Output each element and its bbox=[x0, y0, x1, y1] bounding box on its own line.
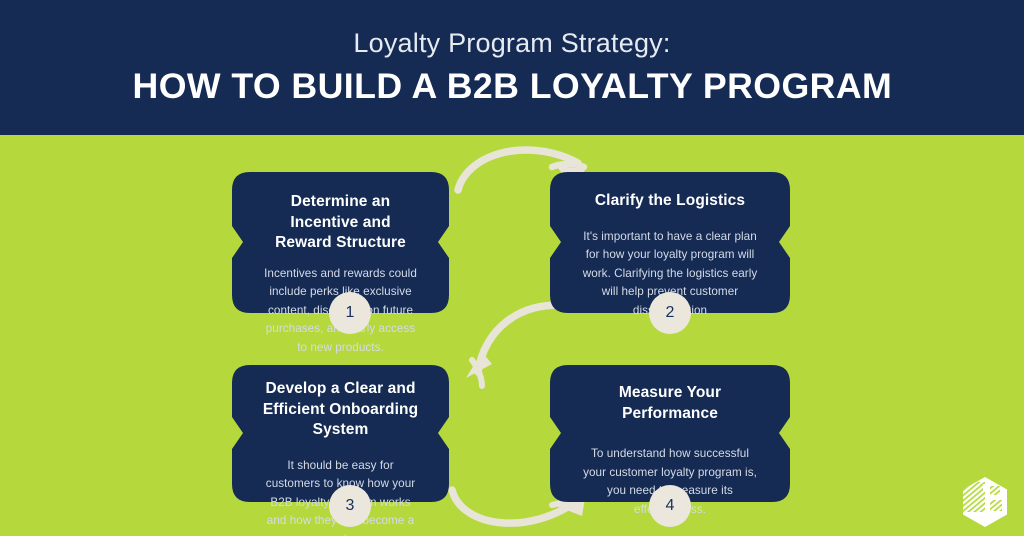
hexagon-logo bbox=[960, 476, 1010, 528]
step-card-4[interactable]: Measure Your Performance To understand h… bbox=[550, 365, 790, 502]
step-card-4-title: Measure Your Performance bbox=[578, 383, 762, 424]
step-card-3-title: Develop a Clear and Efficient Onboarding… bbox=[260, 379, 421, 441]
step-card-1-title: Determine an Incentive and Reward Struct… bbox=[260, 192, 421, 254]
step-card-2-title: Clarify the Logistics bbox=[595, 191, 745, 212]
step-card-4-content: Measure Your Performance To understand h… bbox=[550, 365, 790, 502]
header-band: Loyalty Program Strategy: HOW TO BUILD A… bbox=[0, 0, 1024, 135]
step-badge-3: 3 bbox=[329, 485, 371, 527]
step-card-1[interactable]: Determine an Incentive and Reward Struct… bbox=[232, 172, 449, 313]
step-card-1-content: Determine an Incentive and Reward Struct… bbox=[232, 172, 449, 313]
step-badge-4: 4 bbox=[649, 485, 691, 527]
infographic-root: Loyalty Program Strategy: HOW TO BUILD A… bbox=[0, 0, 1024, 536]
step-card-3-content: Develop a Clear and Efficient Onboarding… bbox=[232, 365, 449, 502]
step-card-3[interactable]: Develop a Clear and Efficient Onboarding… bbox=[232, 365, 449, 502]
step-badge-2: 2 bbox=[649, 292, 691, 334]
header-eyebrow: Loyalty Program Strategy: bbox=[353, 29, 670, 59]
step-badge-1: 1 bbox=[329, 292, 371, 334]
page-title: HOW TO BUILD A B2B LOYALTY PROGRAM bbox=[132, 69, 892, 106]
